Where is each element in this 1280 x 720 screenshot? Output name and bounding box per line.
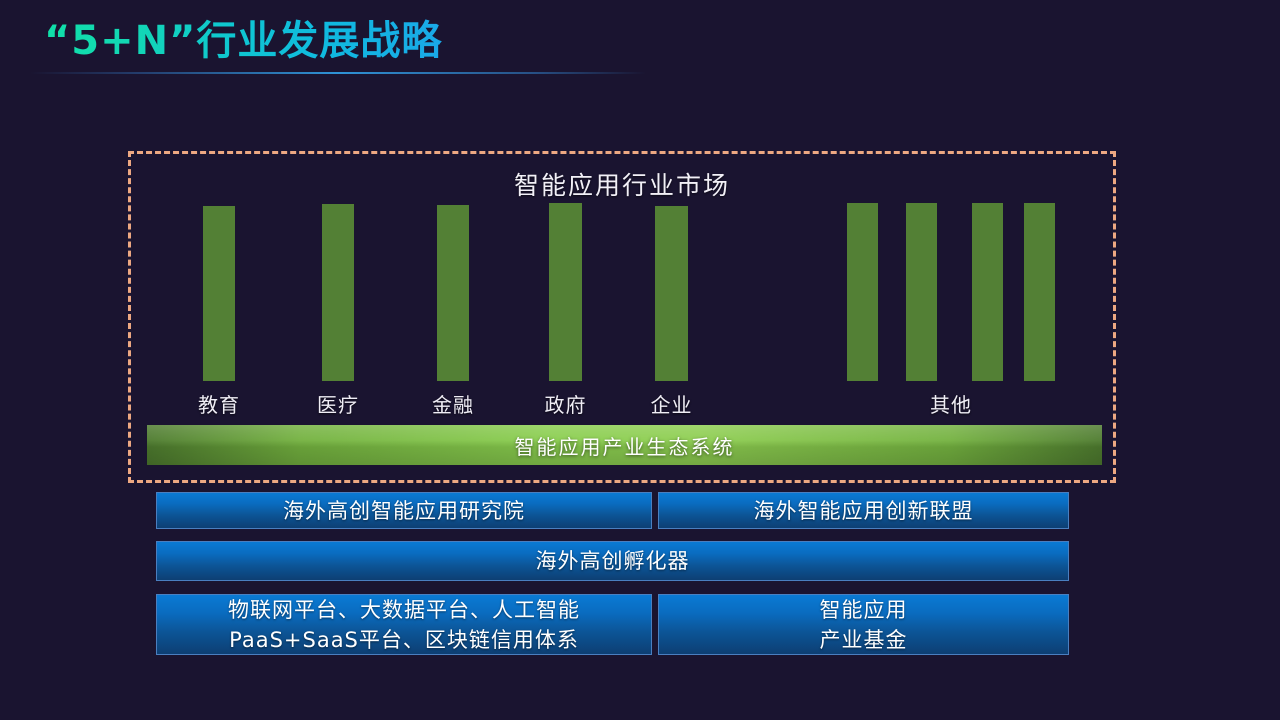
market-heading: 智能应用行业市场: [131, 166, 1113, 202]
market-bar: [203, 206, 235, 381]
bar-label: 金融: [417, 389, 489, 418]
foundation-box[interactable]: 海外智能应用创新联盟: [658, 492, 1069, 529]
foundation-box-label: 智能应用产业基金: [820, 595, 908, 655]
market-bar: [972, 203, 1003, 381]
foundation-box[interactable]: 智能应用产业基金: [658, 594, 1069, 655]
market-bar: [847, 203, 878, 381]
bar-label: 政府: [529, 389, 602, 418]
foundation-box-line1: 海外高创孵化器: [536, 549, 690, 573]
foundation-box-line2: PaaS+SaaS平台、区块链信用体系: [228, 625, 580, 655]
ecosystem-band: 智能应用产业生态系统: [147, 425, 1102, 465]
market-bar: [322, 204, 354, 381]
foundation-box-line1: 智能应用: [820, 598, 908, 622]
foundation-box-label: 海外高创孵化器: [536, 546, 690, 576]
foundation-box-label: 海外高创智能应用研究院: [283, 496, 525, 526]
bar-label: 教育: [183, 389, 255, 418]
bar-label: 医疗: [302, 389, 374, 418]
bar-label: 企业: [635, 389, 708, 418]
foundation-box-label: 海外智能应用创新联盟: [754, 496, 974, 526]
title-underline-rule: [30, 72, 646, 74]
market-bar: [655, 206, 688, 381]
foundation-box-line1: 海外高创智能应用研究院: [283, 499, 525, 523]
foundation-box-line1: 物联网平台、大数据平台、人工智能: [228, 598, 580, 622]
foundation-box[interactable]: 物联网平台、大数据平台、人工智能PaaS+SaaS平台、区块链信用体系: [156, 594, 652, 655]
foundation-box[interactable]: 海外高创智能应用研究院: [156, 492, 652, 529]
foundation-box[interactable]: 海外高创孵化器: [156, 541, 1069, 581]
foundation-box-line1: 海外智能应用创新联盟: [754, 499, 974, 523]
page-title: “5+N”行业发展战略: [44, 14, 442, 68]
market-bar: [549, 203, 582, 381]
market-bar: [437, 205, 469, 381]
foundation-box-line2: 产业基金: [820, 625, 908, 655]
market-bar: [1024, 203, 1055, 381]
foundation-box-label: 物联网平台、大数据平台、人工智能PaaS+SaaS平台、区块链信用体系: [228, 595, 580, 655]
ecosystem-label: 智能应用产业生态系统: [515, 431, 735, 460]
bar-label-other: 其他: [847, 389, 1055, 418]
market-bar: [906, 203, 937, 381]
